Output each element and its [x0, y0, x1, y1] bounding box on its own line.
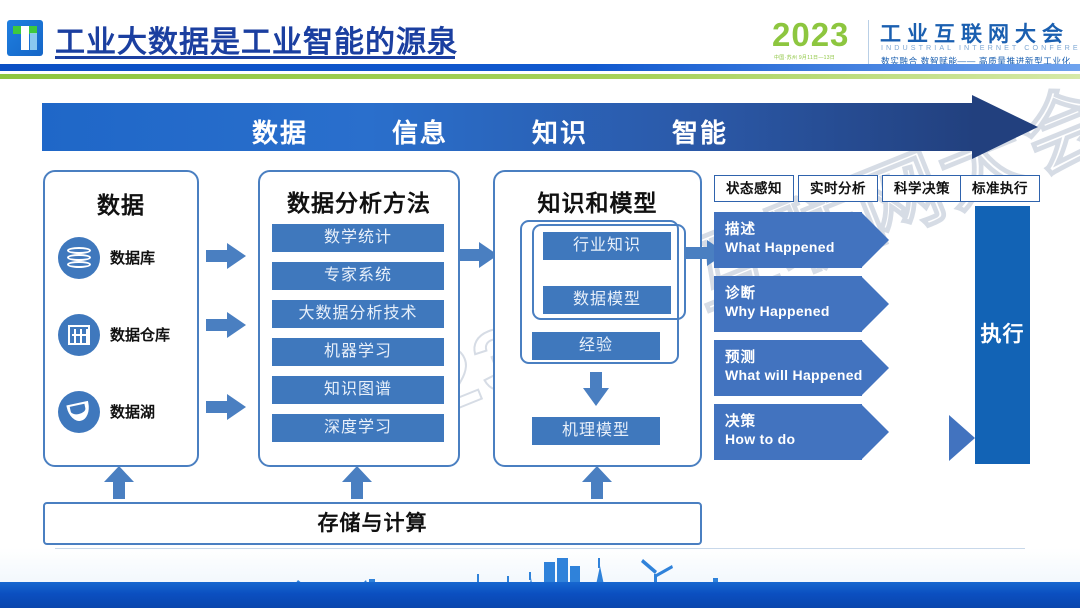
arrow-up-storage-to-knowledge-icon — [582, 466, 612, 498]
conference-name-en: INDUSTRIAL INTERNET CONFERENCE — [881, 43, 1080, 52]
stage-label-en: Why Happened — [725, 303, 830, 319]
page-header: 工业大数据是工业智能的源泉 2023 中国·苏州 9月11日—13日 工业互联网… — [0, 0, 1080, 84]
logo-t-stem — [21, 26, 29, 50]
panel-method-title: 数据分析方法 — [260, 184, 458, 218]
knowledge-item: 经验 — [532, 332, 660, 360]
knowledge-output: 机理模型 — [532, 417, 660, 445]
banner-word-1: 信息 — [392, 113, 448, 150]
data-item-label: 数据库 — [110, 247, 155, 268]
page-footer — [0, 548, 1080, 608]
conference-t-logo-icon — [7, 20, 43, 56]
stage-label-en: What will Happened — [725, 367, 863, 383]
stage-describe: 描述 What Happened — [714, 212, 889, 268]
panel-data-title: 数据 — [45, 186, 197, 220]
capability-box-state-sensing: 状态感知 — [714, 175, 794, 202]
panel-knowledge: 知识和模型 行业知识 数据模型 经验 机理模型 — [493, 170, 702, 467]
arrow-right-to-execute-icon — [949, 415, 975, 461]
method-item: 知识图谱 — [272, 376, 444, 404]
arrow-right-lake-icon — [206, 394, 246, 420]
footer-separator — [55, 548, 1025, 549]
page-title: 工业大数据是工业智能的源泉 — [55, 17, 458, 61]
data-item-label: 数据湖 — [110, 401, 155, 422]
conference-date: 中国·苏州 9月11日—13日 — [774, 54, 835, 61]
capability-box-realtime-analysis: 实时分析 — [798, 175, 878, 202]
data-item-label: 数据仓库 — [110, 324, 170, 345]
stage-label-cn: 预测 — [725, 346, 756, 367]
method-item: 机器学习 — [272, 338, 444, 366]
capability-box-scientific-decision: 科学决策 — [882, 175, 962, 202]
stage-diagnose: 诊断 Why Happened — [714, 276, 889, 332]
stage-label-en: How to do — [725, 431, 795, 447]
stage-decide: 决策 How to do — [714, 404, 889, 460]
panel-method: 数据分析方法 数学统计 专家系统 大数据分析技术 机器学习 知识图谱 深度学习 — [258, 170, 460, 467]
banner-word-0: 数据 — [252, 113, 308, 150]
banner-word-2: 知识 — [532, 113, 588, 150]
arrow-up-storage-to-data-icon — [104, 466, 134, 498]
capability-box-standard-execution: 标准执行 — [960, 175, 1040, 202]
header-rule-blue — [0, 64, 1080, 71]
flow-banner-arrowhead-icon — [972, 95, 1038, 159]
knowledge-item: 数据模型 — [543, 286, 671, 314]
stage-label-cn: 描述 — [725, 218, 756, 239]
banner-word-3: 智能 — [672, 113, 728, 150]
arrow-up-storage-to-method-icon — [342, 466, 372, 498]
panel-data: 数据 数据库 数据仓库 数据湖 — [43, 170, 199, 467]
knowledge-item: 行业知识 — [543, 232, 671, 260]
conference-logo: 2023 中国·苏州 9月11日—13日 工业互联网大会 INDUSTRIAL … — [772, 14, 1072, 70]
conference-year: 2023 — [772, 16, 849, 54]
method-item: 深度学习 — [272, 414, 444, 442]
conference-divider — [868, 20, 869, 64]
data-lake-icon — [58, 391, 100, 433]
footer-water-band — [0, 582, 1080, 608]
logo-t-accent — [30, 33, 37, 50]
stage-label-en: What Happened — [725, 239, 835, 255]
storage-and-compute-bar: 存储与计算 — [43, 502, 702, 545]
stage-label-cn: 诊断 — [725, 282, 756, 303]
flow-banner-body — [42, 103, 976, 151]
arrow-down-knowledge-icon — [583, 372, 609, 406]
warehouse-icon — [58, 314, 100, 356]
stage-label-cn: 决策 — [725, 410, 756, 431]
method-item: 数学统计 — [272, 224, 444, 252]
execute-label: 执行 — [975, 318, 1030, 348]
method-item: 大数据分析技术 — [272, 300, 444, 328]
title-underline — [55, 56, 455, 59]
flow-banner: 数据 信息 知识 智能 — [42, 103, 1038, 151]
stage-predict: 预测 What will Happened — [714, 340, 889, 396]
header-rule-green — [0, 74, 1080, 79]
database-icon — [58, 237, 100, 279]
arrow-right-method-to-knowledge-icon — [458, 242, 498, 268]
panel-knowledge-title: 知识和模型 — [495, 184, 700, 218]
method-item: 专家系统 — [272, 262, 444, 290]
arrow-right-warehouse-icon — [206, 312, 246, 338]
arrow-right-database-icon — [206, 243, 246, 269]
